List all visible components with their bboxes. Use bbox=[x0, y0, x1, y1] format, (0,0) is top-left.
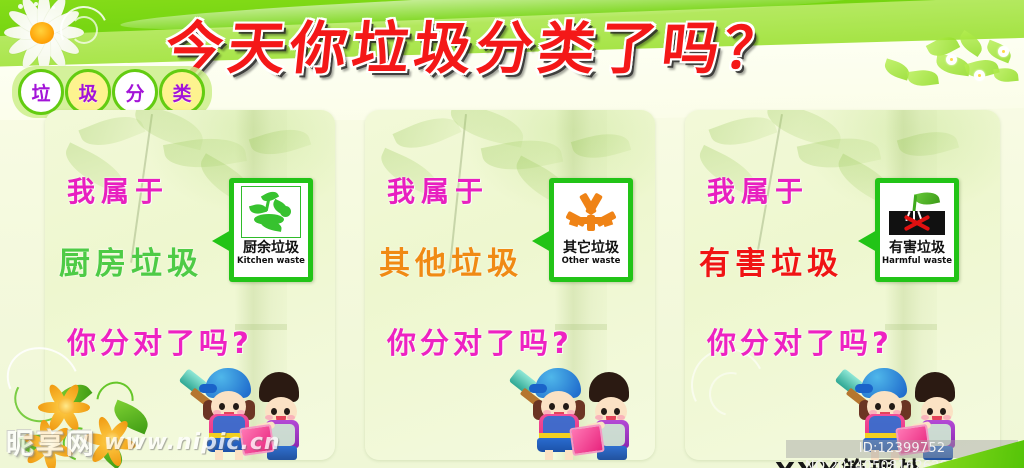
panel-other[interactable]: 我属于 其他垃圾 你分对了吗? 其它垃圾 bbox=[365, 110, 655, 460]
panel-harmful-mine-label: 我属于 bbox=[707, 170, 809, 210]
sign-pointer-icon bbox=[212, 230, 231, 252]
sign-harmful-waste[interactable]: 有害垃圾 Harmful waste bbox=[875, 178, 959, 282]
other-waste-arrow-icon bbox=[554, 185, 628, 238]
sign-kitchen-cn: 厨余垃圾 bbox=[243, 240, 299, 256]
sign-pointer-icon bbox=[858, 230, 877, 252]
sign-harmful-cn: 有害垃圾 bbox=[889, 240, 945, 256]
panel-other-kind-label: 其他垃圾 bbox=[379, 238, 523, 283]
harmful-waste-icon bbox=[880, 185, 954, 238]
sign-harmful-en: Harmful waste bbox=[882, 256, 952, 266]
swirl-decoration-small-icon bbox=[70, 16, 98, 44]
leaf-cluster-decoration-icon bbox=[874, 26, 1024, 116]
food-scraps-icon bbox=[234, 185, 308, 238]
waste-sorting-poster: 今天你垃圾分类了吗？ 垃 圾 分 类 我属于 厨房垃圾 你分对了吗? bbox=[0, 0, 1024, 468]
panel-kitchen-kind-label: 厨房垃圾 bbox=[59, 238, 203, 283]
panel-harmful-kind-label: 有害垃圾 bbox=[699, 238, 843, 283]
sign-other-en: Other waste bbox=[562, 256, 621, 266]
badge-char-2: 圾 bbox=[65, 69, 111, 115]
panel-kitchen-mine-label: 我属于 bbox=[67, 170, 169, 210]
sign-kitchen-en: Kitchen waste bbox=[237, 256, 305, 266]
kids-illustration bbox=[527, 360, 651, 460]
poster-title: 今天你垃圾分类了吗？ bbox=[162, 14, 869, 84]
watermark-cn: 昵享网 bbox=[6, 422, 96, 462]
sign-other-waste[interactable]: 其它垃圾 Other waste bbox=[549, 178, 633, 282]
badge-char-1: 垃 bbox=[18, 69, 64, 115]
panel-other-ask-label: 你分对了吗? bbox=[387, 320, 573, 362]
panel-other-mine-label: 我属于 bbox=[387, 170, 489, 210]
watermark-url: www.nipic.cn bbox=[104, 430, 281, 455]
sign-other-cn: 其它垃圾 bbox=[563, 240, 619, 256]
badge-char-3: 分 bbox=[112, 69, 158, 115]
panel-harmful[interactable]: 我属于 有害垃圾 你分对了吗? 有害垃圾 bbox=[685, 110, 1000, 460]
site-watermark: 昵享网 www.nipic.cn bbox=[6, 422, 281, 462]
sign-kitchen-waste[interactable]: 厨余垃圾 Kitchen waste bbox=[229, 178, 313, 282]
panel-harmful-ask-label: 你分对了吗? bbox=[707, 320, 893, 362]
sign-pointer-icon bbox=[532, 230, 551, 252]
badge-char-4: 类 bbox=[159, 69, 205, 115]
